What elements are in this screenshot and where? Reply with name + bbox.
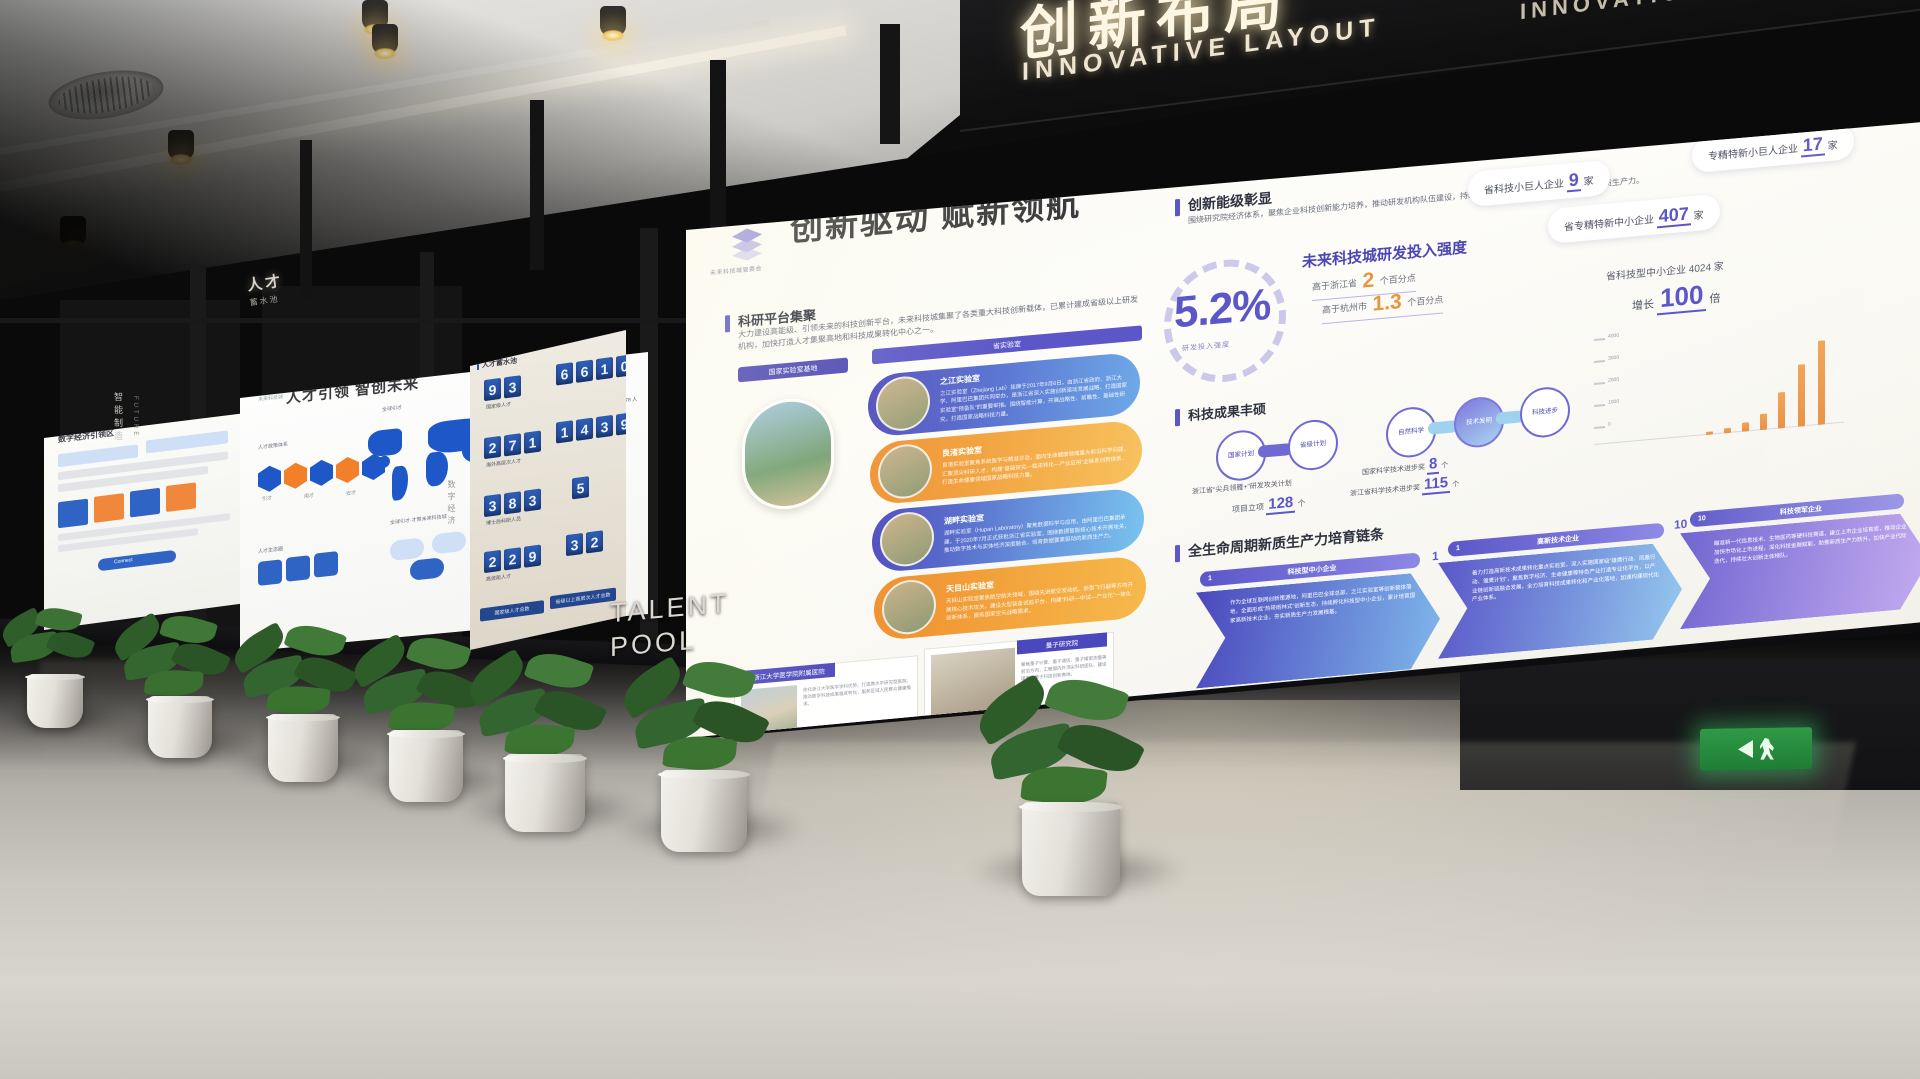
ceiling-sign-title-en-right: INNOVATION [1520,0,1705,25]
ceiling-spotlight [372,24,398,54]
board-number-row: 38 3 [484,489,541,518]
lab-card-thumbnail [882,578,936,637]
digit: 3 [524,489,541,512]
chip [130,488,160,518]
digit: 2 [586,530,603,553]
board-button[interactable]: 国家级人才总数 [480,600,544,622]
chip [146,430,228,453]
talent-hex-label: 用才 [304,492,314,500]
bar [1742,422,1749,432]
ribbon-label-left-text: 国家实验室基地 [769,363,818,377]
board-caption: 博士后科研人员 [486,515,521,527]
achievement-value: 115 [1422,474,1450,496]
digit: 2 [484,550,501,573]
talent-section-label: 人才政策体系 [258,441,288,451]
bar [1818,340,1825,425]
chip [166,482,196,512]
lifecycle-stage-body: 着力打造高新技术成果转化重点实验室，深入实施国家级“雄鹰行动、凤凰行动、雏鹰计划… [1472,553,1660,605]
structural-beam [300,140,312,300]
pill-value: 17 [1801,133,1825,157]
rd-intensity-percent: 5.2% [1174,280,1270,339]
lab-card-thumbnail [878,442,932,501]
pill-value: 407 [1657,203,1691,228]
lifecycle-stage-number: 1 [1432,549,1439,564]
board-number-row: 93 [484,375,521,401]
y-axis-tick [1594,360,1605,362]
y-axis-label: 4000 [1608,333,1619,340]
achievement-value: 128 [1266,494,1295,516]
digit: 6 [556,362,573,385]
achievement-unit: 个 [1441,462,1448,470]
exit-sign [1700,727,1812,771]
organization-logo-icon [726,225,768,263]
pill-unit: 家 [1828,140,1838,152]
ribbon-label-right-text: 省实验室 [993,339,1021,351]
sme-growth-value: 100 [1657,279,1706,315]
display-panel-far-left[interactable]: 数字经济引领区 Connect [44,412,254,630]
board-number-row: 14 39 [556,412,633,443]
pillar-label-mid: 数字经济 [446,480,457,528]
ceiling-spotlight [168,130,194,160]
rd-row-prefix: 高于浙江省 [1312,278,1357,292]
structural-beam [530,100,544,270]
chip [390,537,424,561]
photo-card-body: 依托浙江大学医学学科优势，打造高水平研究型医院，推动医学科技成果临床转化，服务区… [803,677,913,708]
lifecycle-stage-index: 10 [1698,515,1706,523]
y-axis-tick [1594,382,1605,384]
hex-icon [336,456,359,485]
photo-card-title: 量子研究院 [1017,632,1107,654]
talent-number-board[interactable]: 人才蓄水池 93 国家级人才 66 10 27 1 海外高层次人才 14 39 … [470,330,626,650]
potted-plant [460,660,630,832]
sme-stat-growth: 增长 100 倍 [1632,278,1721,317]
hex-icon [310,459,333,488]
y-axis-tick [1594,404,1605,406]
chip [58,499,88,529]
bar [1760,414,1767,431]
board-caption: 海外高层次人才 [486,457,521,469]
structural-beam [880,24,900,144]
planter-pot [505,754,585,832]
map-continent [426,451,448,487]
structural-beam [710,60,726,250]
chip [258,559,282,586]
achievement-value-unit: 个 [1298,499,1306,509]
achievement-caption: 浙江省“尖兵领雁+”研发攻关计划 [1192,478,1292,497]
digit: 1 [556,420,573,443]
pill-value: 9 [1567,169,1581,192]
pill-label: 省专精特新中小企业 [1564,215,1654,234]
lifecycle-stage-number: 10 [1674,517,1687,532]
bar [1706,431,1713,435]
board-caption: 高技能人才 [486,573,511,583]
achievement-node-label: 国家计划 [1228,450,1254,461]
talent-pool-sign: TALENT POOL [610,587,730,665]
achievement-value: 8 [1427,455,1439,475]
y-axis-tick [1594,426,1605,428]
board-button[interactable]: 省级以上高层次人才总数 [550,588,616,610]
chip [286,555,310,582]
digit: 9 [524,545,541,568]
y-axis-label: 2000 [1608,377,1619,384]
pill-label: 专精特新小巨人企业 [1708,144,1798,163]
bar [1798,364,1805,427]
running-man-icon [1760,738,1775,760]
planter-pot [27,674,83,728]
digit: 2 [484,436,501,459]
potted-plant [0,608,110,728]
achievement-node-label: 技术发明 [1466,417,1492,428]
ceiling-spotlight [600,6,626,36]
section-heading-lifecycle: 全生命周期新质生产力培育链条 [1188,524,1384,561]
digit: 2 [504,547,521,570]
talent-hex-label: 引才 [262,494,272,502]
lifecycle-stage-body: 瞄准新一代信息技术、生物医药等硬科技赛道，建立上市企业培育库，推动企业加快市场化… [1714,523,1908,567]
board-number-row: 27 1 [484,431,541,460]
digit: 8 [504,491,521,514]
ceiling-spotlight [60,216,86,246]
achievement-node-label: 科技进步 [1532,407,1558,418]
board-number-row: 66 10 [556,354,633,385]
pill-unit: 家 [1694,210,1704,222]
section-heading-achievements: 科技成果丰硕 [1188,398,1266,424]
digit: 1 [524,431,541,454]
bar-group [1706,313,1844,435]
facility-photo [742,395,834,513]
chip [314,551,338,578]
chip [94,493,124,523]
digit: 5 [572,476,589,499]
map-continent [378,455,390,468]
board-number-row: 22 9 [484,545,541,574]
hex-icon [284,461,307,490]
achievement-caption-text: 国家科学技术进步奖 [1362,464,1425,477]
floor-reflection [744,742,1856,892]
digit: 7 [504,433,521,456]
far-left-footer-button[interactable] [98,550,176,572]
bar [1778,392,1785,429]
pillar-label-en: FUTURE [132,396,138,438]
talent-section-label: 人才生态圈 [258,545,283,555]
digit: 3 [566,533,583,556]
talent-pool-sign-cn: 人才 [246,270,285,296]
board-number-row: 5 [572,476,589,499]
sme-growth-bar-chart: 4000 3000 2000 1000 0 [1594,313,1844,445]
lifecycle-stage-body: 作为全球互联网创新策源地，阿里巴巴全球总部、之江实验室等创新载体落地，全面形成“… [1230,583,1418,626]
achievement-node-label: 自然科学 [1398,427,1424,438]
achievement-value-prefix: 项目立项 [1232,502,1264,514]
achievement-value-row: 项目立项 128 个 [1232,493,1306,517]
left-arrow-icon [1738,740,1753,758]
rd-row-prefix: 高于杭州市 [1322,301,1367,315]
planter-pot [148,696,212,758]
achievement-unit: 个 [1452,481,1459,489]
digit: 9 [484,378,501,401]
digit: 4 [576,418,593,441]
planter-pot [1022,802,1120,896]
y-axis-label: 1000 [1608,399,1619,406]
ribbon-label-left: 国家实验室基地 [738,358,848,383]
y-axis-label: 3000 [1608,355,1619,362]
rd-row-suffix: 个百分点 [1380,273,1416,286]
rd-row-value: 1.3 [1370,290,1405,316]
board-caption: 国家级人才 [486,401,511,411]
y-axis-tick [1594,338,1605,340]
lab-card-thumbnail [876,374,930,433]
digit: 1 [596,357,613,380]
achievement-node-label: 省级计划 [1300,440,1326,451]
potted-plant [966,688,1176,896]
pillar-label-cn: 智能制造 [112,392,125,444]
achievement-caption-text: 浙江省科学技术进步奖 [1350,484,1420,497]
map-continent [392,465,408,501]
exhibition-hall-photo: 创新布局 创新引领 INNOVATIVE LAYOUT INNOVATION 数… [0,0,1920,1079]
planter-pot [389,730,463,802]
enterprise-pill: 省专精特新中小企业 407 家 [1548,194,1720,244]
talent-section-label: 全球引才 [382,404,402,413]
lifecycle-chevron[interactable]: 着力打造高新技术成果转化重点实验室，深入实施国家级“雄鹰行动、凤凰行动、雏鹰计划… [1438,541,1682,659]
talent-hex-label: 安才 [346,489,356,497]
digit: 3 [504,375,521,398]
y-axis-label: 0 [1608,421,1611,427]
sme-growth-suffix: 倍 [1710,293,1721,306]
map-continent [368,428,402,458]
planter-pot [661,770,747,852]
sme-growth-prefix: 增长 [1632,299,1654,313]
potted-plant [614,668,794,852]
achievement-node: 科技进步 [1520,385,1570,439]
talent-map-caption: 全球引才·才聚未来科技城 [390,513,447,526]
digit: 6 [576,360,593,383]
board-number-row: 32 [566,530,603,556]
pill-label: 省科技小巨人企业 [1484,179,1564,197]
leaf [35,603,83,635]
chip [432,531,466,555]
rd-row-value: 2 [1360,268,1378,293]
hex-icon [258,464,281,493]
lifecycle-chevron[interactable]: 瞄准新一代信息技术、生物医药等硬科技赛道，建立上市企业培育库，推动企业加快市场化… [1680,511,1920,629]
lab-card-thumbnail [880,510,934,569]
digit: 3 [484,494,501,517]
planter-pot [268,714,338,782]
achievement-node: 省级计划 [1288,418,1338,472]
node-connector [1258,443,1292,458]
bar [1724,428,1731,434]
enterprise-pill: 省科技小巨人企业 9 家 [1468,160,1610,208]
pill-unit: 家 [1584,176,1594,188]
talent-pool-wall-sign: 人才 蓄水池 [246,270,286,309]
main-logo-caption: 未来科技城管委会 [710,263,762,277]
digit: 3 [596,415,613,438]
chip [410,557,444,581]
rd-row-suffix: 个百分点 [1407,294,1443,307]
